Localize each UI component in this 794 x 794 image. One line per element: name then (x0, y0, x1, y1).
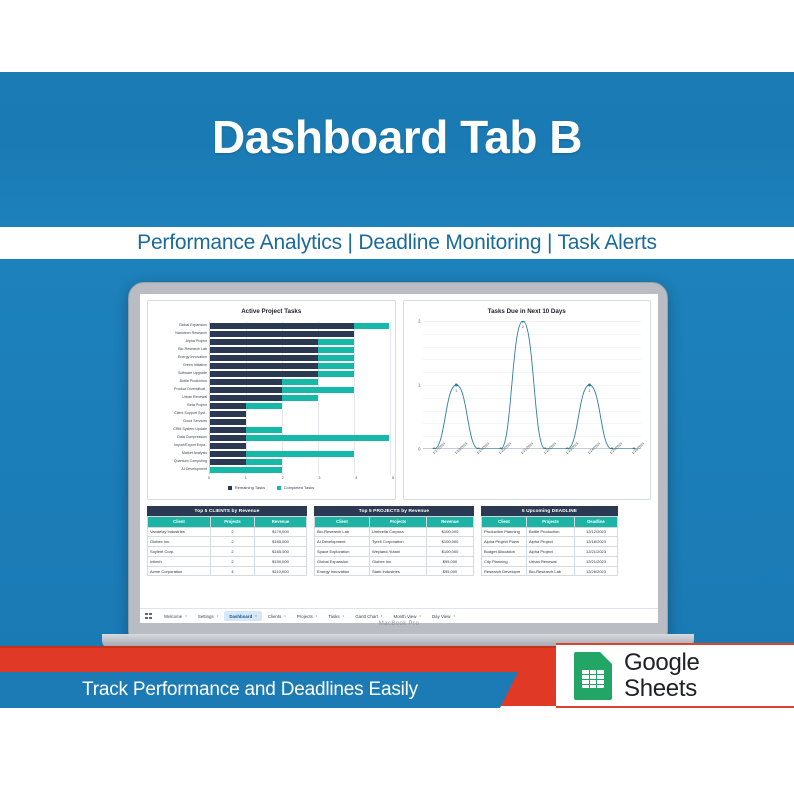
table-cell: $110,000 (255, 566, 307, 576)
sheet-tab-gantt-chart[interactable]: Gantt Chart▾ (350, 611, 387, 621)
bar-row (210, 459, 390, 464)
line-chart-y-axis: 012 (409, 321, 423, 449)
column-header: Client (482, 517, 527, 527)
svg-text:2: 2 (521, 325, 523, 329)
laptop-mockup: Active Project Tasks Global ExpansionNan… (128, 282, 668, 654)
bar-row (210, 347, 390, 352)
bar-category-label: Client Support Syst.. (174, 412, 207, 416)
bar-chart-x-axis: 012345 (209, 474, 390, 484)
table-cell: 2 (211, 556, 255, 566)
table-row: Research DevelopmBio-Research Lab12/26/2… (482, 566, 618, 576)
bar-category-label: Green Initiative (183, 364, 207, 368)
data-table: Top 5 PROJECTS by RevenueClientProjectsR… (314, 506, 474, 576)
table-cell: $100,000 (427, 527, 474, 537)
column-header: Client (148, 517, 211, 527)
table-cell: Bio-Research Lab (527, 566, 575, 576)
sheet-tab-label: Day View (432, 614, 450, 619)
chevron-down-icon[interactable]: ▾ (381, 614, 383, 618)
sheet-tab-label: Clients (268, 614, 281, 619)
table-row: Soylent Corp.2$165,000 (148, 547, 307, 557)
table-cell: Bio-Research Lab (315, 527, 370, 537)
svg-text:1: 1 (455, 389, 457, 393)
laptop-screen: Active Project Tasks Global ExpansionNan… (140, 294, 658, 623)
bar-category-label: Cloud Services (183, 420, 207, 424)
legend-item: Remaining Tasks (228, 485, 265, 490)
line-chart-series: 121 (423, 321, 642, 449)
google-sheets-badge: Google Sheets (556, 643, 794, 708)
table-header-row: ClientProjectsRevenue (148, 517, 307, 527)
svg-text:1: 1 (588, 389, 590, 393)
table-cell: 2 (211, 547, 255, 557)
bar-category-label: Market Analysis (182, 452, 207, 456)
bar-category-label: AI Development (181, 468, 207, 472)
table-caption: Top 5 PROJECTS by Revenue (314, 506, 474, 516)
column-header: Deadline (575, 517, 618, 527)
bar-x-tick: 3 (318, 475, 320, 480)
sheet-tab-label: Tasks (328, 614, 339, 619)
bar-row (210, 331, 390, 336)
bar-category-label: Beta Project (187, 404, 207, 408)
sheet-tab-label: Settings (198, 614, 214, 619)
table-cell: $170,000 (255, 527, 307, 537)
laptop-lid: Active Project Tasks Global ExpansionNan… (128, 282, 668, 638)
bar-row (210, 339, 390, 344)
table-cell: Alpha Project (527, 547, 575, 557)
table-cell: Global Expansion (315, 556, 370, 566)
bar-chart-category-labels: Global ExpansionNanotech ResearchAlpha P… (153, 322, 209, 474)
tasks-due-chart: Tasks Due in Next 10 Days 012 121 1/17/2… (403, 300, 652, 500)
sheet-tab-label: Projects (297, 614, 313, 619)
bar-x-tick: 0 (208, 475, 210, 480)
line-series-path: 121 (423, 321, 645, 449)
bar-row (210, 411, 390, 416)
table-cell: Soylent Corp. (148, 547, 211, 557)
table-cell: Acme Corporation (148, 566, 211, 576)
table-cell: 12/18/2023 (575, 537, 618, 547)
bar-row (210, 355, 390, 360)
bar-row (210, 379, 390, 384)
bar-chart-title: Active Project Tasks (153, 308, 390, 315)
column-header: Revenue (427, 517, 474, 527)
table-cell: Globex Inc. (148, 537, 211, 547)
active-project-tasks-chart: Active Project Tasks Global ExpansionNan… (147, 300, 396, 500)
table-cell: Bottle Production (527, 527, 575, 537)
column-header: Projects (527, 517, 575, 527)
hero-banner: Dashboard Tab B (0, 72, 794, 227)
tables-row: Top 5 CLIENTS by RevenueClientProjectsRe… (147, 506, 651, 576)
sheet-tab-label: Welcome (164, 614, 182, 619)
table-cell: 2 (211, 527, 255, 537)
table-cell: Globex Inc. (370, 556, 427, 566)
line-chart-x-axis: 1/17/20241/18/20241/19/20241/20/20241/21… (423, 451, 642, 471)
table-row: City PlanningUrban Renewal12/21/2023 (482, 556, 618, 566)
table-row: Acme Corporation4$110,000 (148, 566, 307, 576)
chevron-down-icon[interactable]: ▾ (453, 614, 455, 618)
bar-x-tick: 4 (355, 475, 357, 480)
sheet-tab-clients[interactable]: Clients▾ (263, 611, 291, 621)
bar-row (210, 371, 390, 376)
bar-row (210, 451, 390, 456)
chevron-down-icon[interactable]: ▾ (419, 614, 421, 618)
table-cell: $150,000 (255, 556, 307, 566)
bar-chart-bars (209, 322, 390, 474)
table-cell: Stark Industries (370, 566, 427, 576)
sheet-tab-tasks[interactable]: Tasks▾ (323, 611, 349, 621)
table-row: Bio-Research LabUmbrella Corpora$100,000 (315, 527, 474, 537)
table-cell: Weyland-Yutani (370, 547, 427, 557)
table-caption: Top 5 CLIENTS by Revenue (147, 506, 307, 516)
legend-swatch (277, 486, 281, 490)
bar-row (210, 387, 390, 392)
sheet-tab-day-view[interactable]: Day View▾ (427, 611, 460, 621)
bar-row (210, 467, 390, 472)
chevron-down-icon[interactable]: ▾ (284, 614, 286, 618)
google-sheets-icon (574, 652, 612, 700)
chevron-down-icon[interactable]: ▾ (316, 614, 318, 618)
bar-category-label: Global Expansion (179, 324, 207, 328)
bar-category-label: Alpha Project (186, 340, 207, 344)
table-cell: $165,000 (255, 537, 307, 547)
bar-chart-plot-area: Global ExpansionNanotech ResearchAlpha P… (153, 322, 390, 474)
brand-line-1: Google (624, 650, 700, 675)
bar-category-label: Nanotech Research (175, 332, 207, 336)
google-sheets-wordmark: Google Sheets (624, 650, 700, 700)
table-row: Global ExpansionGlobex Inc.$95,000 (315, 556, 474, 566)
page-title: Dashboard Tab B (0, 110, 794, 164)
data-table: Top 5 CLIENTS by RevenueClientProjectsRe… (147, 506, 307, 576)
table-row: Vandelay Industries2$170,000 (148, 527, 307, 537)
chevron-down-icon[interactable]: ▾ (217, 614, 219, 618)
line-chart-title: Tasks Due in Next 10 Days (409, 308, 646, 315)
column-header: Projects (211, 517, 255, 527)
line-y-tick: 2 (418, 319, 420, 324)
table-cell: $100,000 (427, 547, 474, 557)
line-y-tick: 0 (418, 447, 420, 452)
table-caption: 5 Upcoming DEADLINE (481, 506, 618, 516)
table-cell: 12/26/2023 (575, 566, 618, 576)
table-row: Energy InnovationStark Industries$95,000 (315, 566, 474, 576)
charts-row: Active Project Tasks Global ExpansionNan… (147, 300, 651, 500)
table-header-row: ClientProjectsDeadline (482, 517, 618, 527)
bar-category-label: Software Upgrade (178, 372, 207, 376)
bar-category-label: Product Diversificat.. (174, 388, 207, 392)
legend-item: Completed Tasks (277, 485, 314, 490)
bar-category-label: CRM System Update (173, 428, 207, 432)
bar-row (210, 427, 390, 432)
sheet-tab-projects[interactable]: Projects▾ (292, 611, 322, 621)
bar-row (210, 419, 390, 424)
legend-swatch (228, 486, 232, 490)
bar-category-label: Bio-Research Lab (178, 348, 207, 352)
table-cell: Alpha Project (527, 537, 575, 547)
spreadsheet-app: Active Project Tasks Global ExpansionNan… (140, 294, 658, 623)
table-cell: 12/12/2023 (575, 527, 618, 537)
bar-category-label: Quantum Computing (174, 460, 207, 464)
bar-category-label: Urban Renewal (182, 396, 207, 400)
line-y-tick: 1 (418, 383, 420, 388)
table-row: Initech2$150,000 (148, 556, 307, 566)
table-cell: Budget Allocation (482, 547, 527, 557)
bar-chart-legend: Remaining TasksCompleted Tasks (153, 485, 390, 490)
table-row: Space ExplorationWeyland-Yutani$100,000 (315, 547, 474, 557)
bar-category-label: Data Compression (177, 436, 207, 440)
table-cell: $100,000 (427, 537, 474, 547)
table-header-row: ClientProjectsRevenue (315, 517, 474, 527)
brand-line-2: Sheets (624, 676, 700, 701)
bar-row (210, 323, 390, 328)
table-cell: Energy Innovation (315, 566, 370, 576)
sheet-tab-label: Dashboard (229, 614, 252, 619)
column-header: Client (315, 517, 370, 527)
sheet-tab-label: Month View (394, 614, 417, 619)
subtitle-band: Performance Analytics | Deadline Monitor… (0, 227, 794, 259)
tagline-text: Track Performance and Deadlines Easily (0, 672, 500, 708)
bar-x-tick: 5 (392, 475, 394, 480)
subtitle-text: Performance Analytics | Deadline Monitor… (137, 231, 657, 255)
table-cell: Alpha Project Plann (482, 537, 527, 547)
sheet-tab-welcome[interactable]: Welcome▾ (159, 611, 192, 621)
sheet-tab-month-view[interactable]: Month View▾ (389, 611, 426, 621)
table-cell: 12/21/2023 (575, 556, 618, 566)
table-cell: Initech (148, 556, 211, 566)
sheet-tab-label: Gantt Chart (355, 614, 378, 619)
chevron-down-icon[interactable]: ▾ (343, 614, 345, 618)
table-cell: Tyrell Corporation (370, 537, 427, 547)
bar-x-tick: 2 (281, 475, 283, 480)
legend-label: Remaining Tasks (235, 485, 265, 490)
tagline-band: Track Performance and Deadlines Easily (0, 672, 500, 708)
bar-row (210, 435, 390, 440)
bar-row (210, 403, 390, 408)
laptop-model-label: MacBook Pro (129, 621, 669, 627)
line-chart-plot-area: 012 121 1/17/20241/18/20241/19/20241/20/… (409, 321, 646, 471)
bar-row (210, 363, 390, 368)
table-cell: AI Development (315, 537, 370, 547)
column-header: Projects (370, 517, 427, 527)
table-cell: 12/21/2023 (575, 547, 618, 557)
table-row: Globex Inc.2$165,000 (148, 537, 307, 547)
table-cell: City Planning (482, 556, 527, 566)
bar-row (210, 395, 390, 400)
table-cell: Production Planning (482, 527, 527, 537)
column-header: Revenue (255, 517, 307, 527)
table-row: Production PlanningBottle Production12/1… (482, 527, 618, 537)
bar-category-label: Import/Export Expa.. (174, 444, 207, 448)
data-table: 5 Upcoming DEADLINEClientProjectsDeadlin… (481, 506, 618, 576)
table-row: Budget AllocationAlpha Project12/21/2023 (482, 547, 618, 557)
table-cell: Urban Renewal (527, 556, 575, 566)
all-sheets-grid-icon[interactable] (145, 613, 152, 620)
sheet-tab-dashboard[interactable]: Dashboard▾ (224, 611, 262, 621)
sheet-tab-settings[interactable]: Settings▾ (193, 611, 223, 621)
bar-category-label: Bottle Production (180, 380, 207, 384)
table-cell: Vandelay Industries (148, 527, 211, 537)
table-cell: $95,000 (427, 566, 474, 576)
table-cell: 4 (211, 566, 255, 576)
legend-label: Completed Tasks (284, 485, 315, 490)
chevron-down-icon[interactable]: ▾ (185, 614, 187, 618)
table-cell: Space Exploration (315, 547, 370, 557)
table-cell: $95,000 (427, 556, 474, 566)
bar-row (210, 443, 390, 448)
promo-graphic: Dashboard Tab B Performance Analytics | … (0, 0, 794, 794)
bar-category-label: Energy Innovation (178, 356, 207, 360)
bar-x-tick: 1 (245, 475, 247, 480)
table-row: Alpha Project PlannAlpha Project12/18/20… (482, 537, 618, 547)
table-cell: 2 (211, 537, 255, 547)
table-cell: $165,000 (255, 547, 307, 557)
chevron-down-icon[interactable]: ▾ (255, 614, 257, 618)
table-cell: Research Developm (482, 566, 527, 576)
table-cell: Umbrella Corpora (370, 527, 427, 537)
table-row: AI DevelopmentTyrell Corporation$100,000 (315, 537, 474, 547)
